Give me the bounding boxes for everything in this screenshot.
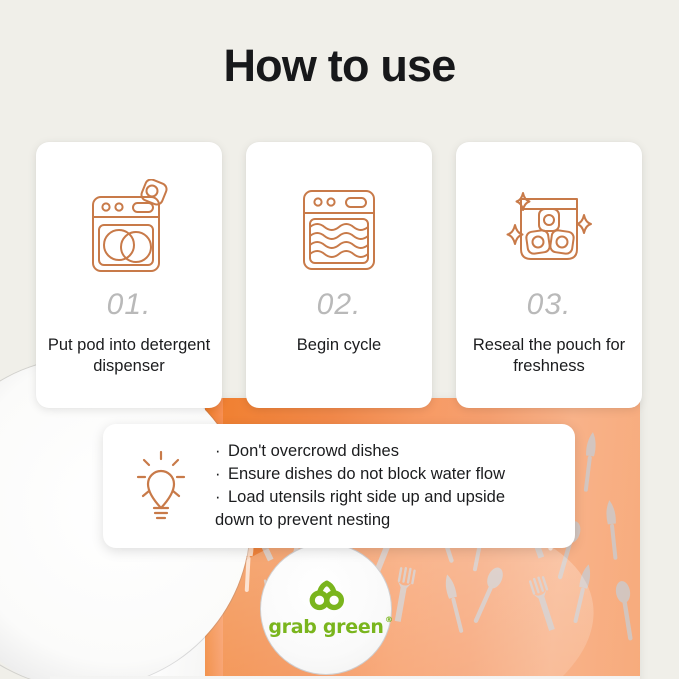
trademark-symbol: ® [385, 615, 393, 624]
step-number: 01. [107, 290, 152, 320]
steps-container: 01. Put pod into detergent dispenser [0, 142, 679, 410]
dishwasher-with-pod-icon [81, 170, 177, 288]
step-label: Put pod into detergent dispenser [36, 335, 222, 377]
tip-text: Don't overcrowd dishes [228, 442, 399, 460]
tip-text-continuation: down to prevent nesting [215, 509, 561, 532]
leaf-86-mark-icon [303, 580, 349, 614]
brand-name-text: grab green [268, 616, 383, 638]
step-card-2[interactable]: 02. Begin cycle [246, 142, 432, 408]
lightbulb-icon [107, 446, 215, 526]
screenshot-stage: grab green® How to use [0, 0, 679, 679]
tips-card[interactable]: ·Don't overcrowd dishes ·Ensure dishes d… [103, 424, 575, 548]
tip-item: ·Load utensils right side up and upside [215, 486, 561, 509]
brand-logo: grab green® [260, 543, 392, 675]
page-title: How to use [0, 40, 679, 92]
step-number: 03. [527, 290, 572, 320]
step-label: Reseal the pouch for freshness [456, 335, 642, 377]
brand-name: grab green® [268, 616, 383, 638]
step-number: 02. [317, 290, 362, 320]
tip-text: Load utensils right side up and upside [228, 488, 505, 506]
tip-item: ·Don't overcrowd dishes [215, 440, 561, 463]
step-card-3[interactable]: 03. Reseal the pouch for freshness [456, 142, 642, 408]
step-card-1[interactable]: 01. Put pod into detergent dispenser [36, 142, 222, 408]
step-label: Begin cycle [289, 335, 389, 356]
resealable-pouch-sparkle-icon [501, 170, 597, 288]
bullet-marker: · [215, 486, 228, 509]
tip-item: ·Ensure dishes do not block water flow [215, 463, 561, 486]
dishwasher-water-cycle-icon [294, 170, 384, 288]
bullet-marker: · [215, 440, 228, 463]
tips-list: ·Don't overcrowd dishes ·Ensure dishes d… [215, 440, 575, 532]
tip-text: Ensure dishes do not block water flow [228, 465, 505, 483]
bullet-marker: · [215, 463, 228, 486]
